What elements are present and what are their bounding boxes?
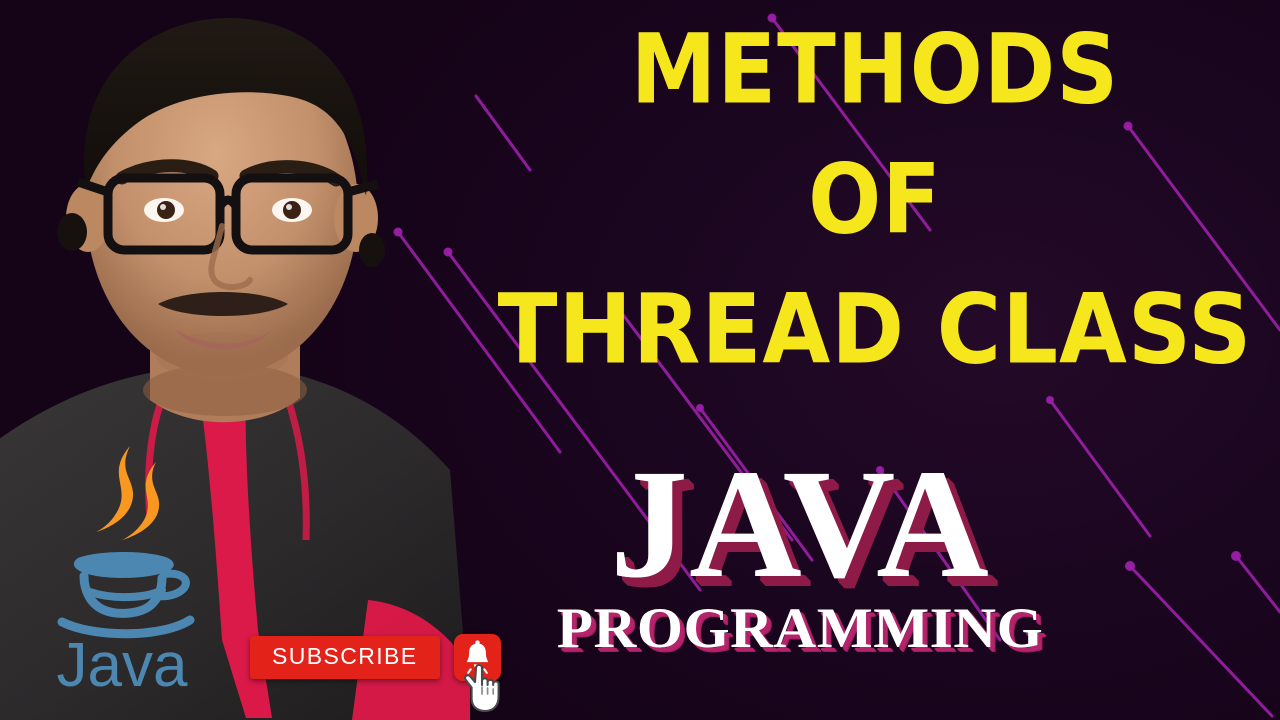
- headline-line-3: THREAD CLASS: [462, 282, 1280, 378]
- brand-title: JAVA: [500, 452, 1100, 596]
- headline-line-2: OF: [470, 152, 1280, 248]
- thumbnail-canvas: Java SUBSCRIBE: [0, 0, 1280, 720]
- java-wordmark: Java: [57, 631, 188, 698]
- brand-subtitle: PROGRAMMING: [488, 600, 1112, 657]
- java-logo: Java: [38, 440, 208, 698]
- brand-block: JAVA PROGRAMMING: [500, 452, 1100, 657]
- subscribe-button[interactable]: SUBSCRIBE: [250, 636, 440, 679]
- headline-line-1: METHODS: [470, 22, 1280, 118]
- headline-block: METHODS OF THREAD CLASS: [470, 22, 1280, 368]
- subscribe-cta-row[interactable]: SUBSCRIBE: [250, 634, 501, 681]
- java-steam-icon: [96, 446, 159, 540]
- java-cup-icon: [62, 552, 190, 634]
